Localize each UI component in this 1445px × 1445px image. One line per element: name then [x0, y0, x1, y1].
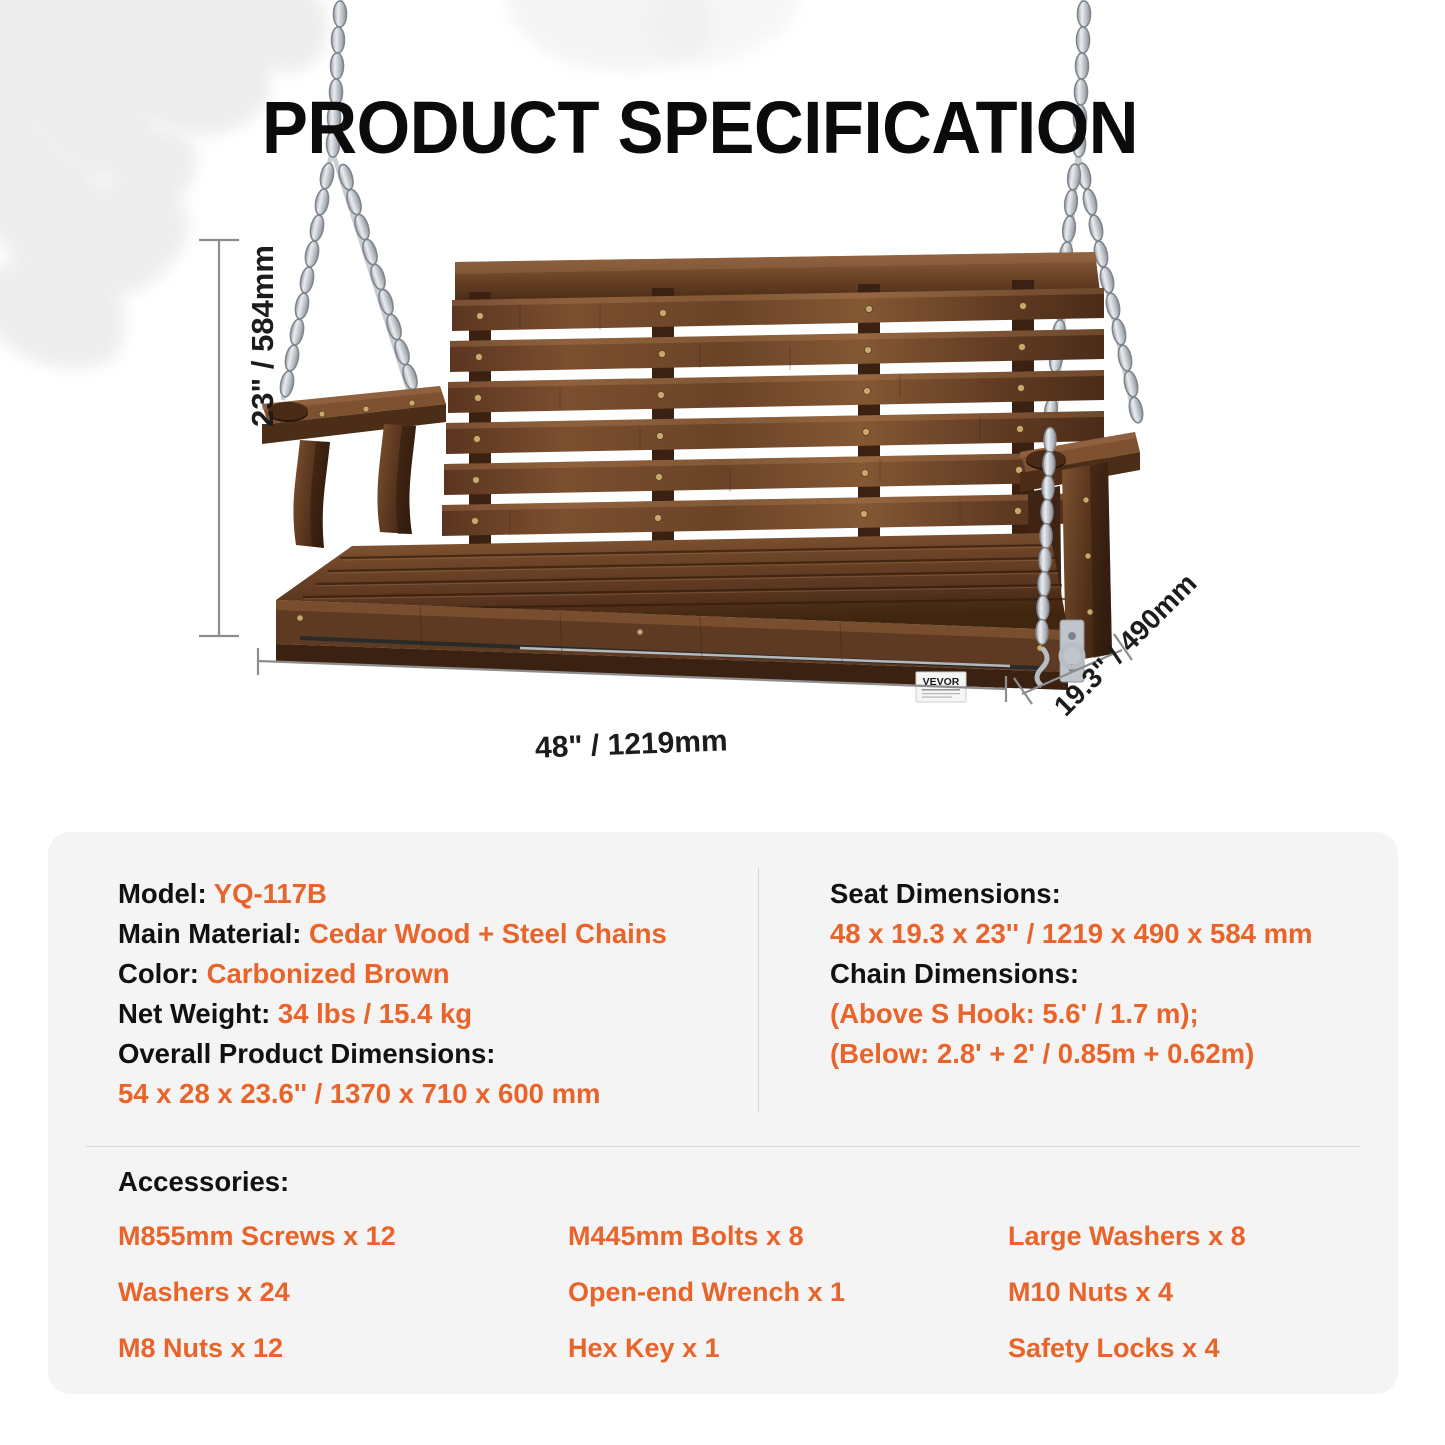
page-title: PRODUCT SPECIFICATION	[262, 88, 1138, 168]
spec-value-overall-dimensions: 54 x 28 x 23.6'' / 1370 x 710 x 600 mm	[118, 1074, 758, 1114]
accessory-item: Safety Locks x 4	[1008, 1328, 1398, 1368]
spec-label-weight: Net Weight:	[118, 998, 270, 1029]
spec-value-chain-above: (Above S Hook: 5.6' / 1.7 m);	[830, 994, 1398, 1034]
accessory-item: Open-end Wrench x 1	[568, 1272, 1008, 1312]
spec-value-model: YQ-117B	[214, 878, 327, 909]
swing-backrest	[440, 252, 1104, 578]
spec-value-weight: 34 lbs / 15.4 kg	[278, 998, 472, 1029]
spec-label-chain-dimensions: Chain Dimensions:	[830, 954, 1398, 994]
accessory-item: M855mm Screws x 12	[118, 1216, 568, 1256]
accessories-grid: M855mm Screws x 12 M445mm Bolts x 8 Larg…	[118, 1216, 1398, 1368]
accessories-section: Accessories: M855mm Screws x 12 M445mm B…	[48, 1162, 1398, 1368]
dimension-label-height: 23" / 584mm	[245, 245, 281, 427]
spec-value-chain-below: (Below: 2.8' + 2' / 0.85m + 0.62m)	[830, 1034, 1398, 1074]
spec-value-seat-dimensions: 48 x 19.3 x 23'' / 1219 x 490 x 584 mm	[830, 914, 1398, 954]
spec-row-material: Main Material: Cedar Wood + Steel Chains	[118, 914, 758, 954]
accessory-item: Hex Key x 1	[568, 1328, 1008, 1368]
spec-label-seat-dimensions: Seat Dimensions:	[830, 874, 1398, 914]
spec-row-color: Color: Carbonized Brown	[118, 954, 758, 994]
product-specification-page: PRODUCT SPECIFICATION	[0, 0, 1445, 1445]
accessory-item: M10 Nuts x 4	[1008, 1272, 1398, 1312]
spec-row-weight: Net Weight: 34 lbs / 15.4 kg	[118, 994, 758, 1034]
spec-label-material: Main Material:	[118, 918, 301, 949]
accessory-item: Large Washers x 8	[1008, 1216, 1398, 1256]
spec-value-material: Cedar Wood + Steel Chains	[309, 918, 667, 949]
section-divider	[86, 1146, 1360, 1147]
accessory-item: M445mm Bolts x 8	[568, 1216, 1008, 1256]
spec-top-section: Model: YQ-117B Main Material: Cedar Wood…	[48, 832, 1398, 1146]
column-divider	[758, 868, 759, 1112]
spec-label-model: Model:	[118, 878, 207, 909]
left-armrest	[262, 386, 446, 548]
spec-label-overall-dimensions: Overall Product Dimensions:	[118, 1038, 495, 1069]
accessories-title: Accessories:	[118, 1162, 1398, 1202]
spec-value-color: Carbonized Brown	[207, 958, 450, 989]
specification-panel: Model: YQ-117B Main Material: Cedar Wood…	[48, 832, 1398, 1394]
spec-column-left: Model: YQ-117B Main Material: Cedar Wood…	[48, 832, 758, 1146]
spec-label-color: Color:	[118, 958, 199, 989]
spec-row-model: Model: YQ-117B	[118, 874, 758, 914]
accessory-item: Washers x 24	[118, 1272, 568, 1312]
spec-row-overall-dimensions-label: Overall Product Dimensions:	[118, 1034, 758, 1074]
spec-column-right: Seat Dimensions: 48 x 19.3 x 23'' / 1219…	[758, 832, 1398, 1146]
accessory-item: M8 Nuts x 12	[118, 1328, 568, 1368]
